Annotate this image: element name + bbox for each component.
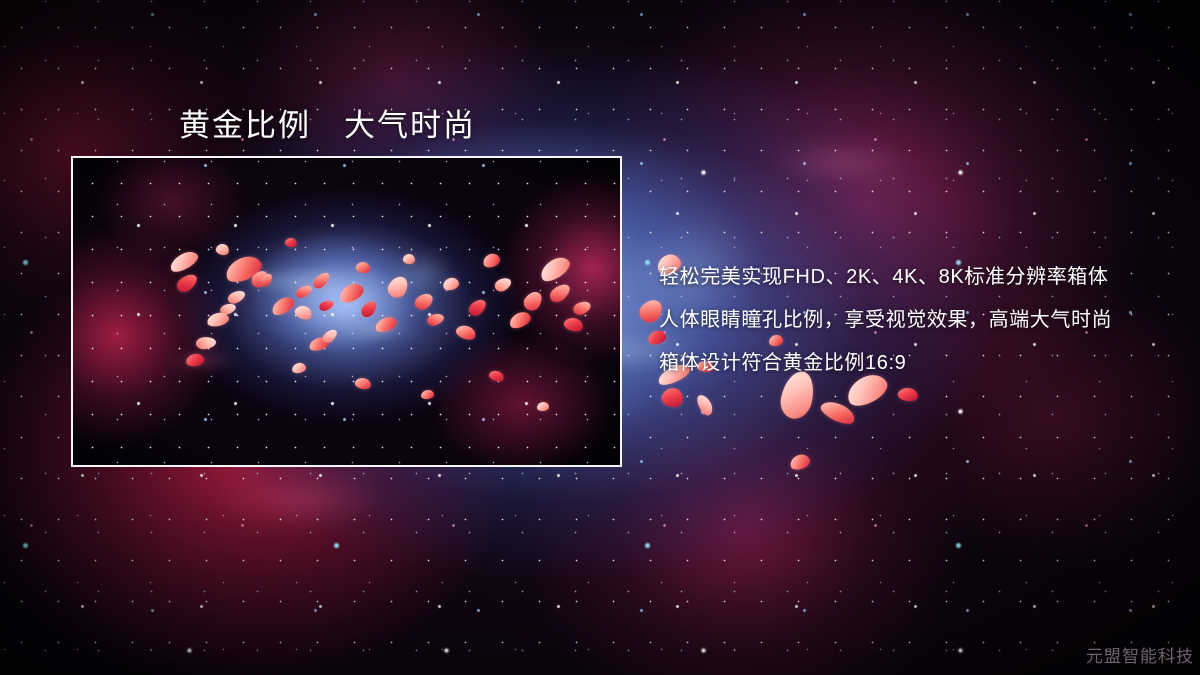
petal — [481, 252, 501, 270]
petal — [185, 353, 204, 367]
petal — [537, 253, 574, 285]
petal — [215, 242, 231, 256]
petal — [294, 283, 314, 300]
petal — [402, 253, 415, 265]
petal — [354, 376, 372, 391]
inset-starfield-small-icon — [73, 158, 620, 465]
body-line-2: 人体眼睛瞳孔比例，享受视觉效果，高端大气时尚 — [659, 299, 1179, 342]
inset-nebula-wisps — [73, 158, 620, 465]
petal — [493, 275, 514, 294]
petal — [308, 335, 331, 352]
petal — [359, 298, 380, 320]
petal — [466, 296, 489, 319]
petal — [454, 323, 477, 343]
petal — [355, 261, 371, 275]
petal — [547, 281, 573, 306]
inset-nebula-background — [73, 158, 620, 465]
petal — [571, 299, 592, 318]
petal — [249, 268, 271, 291]
petal — [311, 270, 332, 291]
petal — [818, 397, 858, 428]
petal — [318, 298, 335, 312]
inset-petal-group — [73, 158, 620, 465]
body-text-block: 轻松完美实现FHD、2K、4K、8K标准分辨率箱体 人体眼睛瞳孔比例，享受视觉效… — [659, 256, 1179, 385]
petal — [537, 402, 550, 412]
petal — [426, 311, 446, 327]
petal — [219, 302, 237, 317]
petal — [421, 389, 435, 399]
petal — [174, 271, 200, 296]
petal — [284, 237, 297, 248]
watermark-label: 元盟智能科技 — [1086, 642, 1194, 667]
petal — [660, 385, 686, 410]
petal — [337, 280, 366, 305]
petal — [488, 369, 506, 384]
petal — [195, 336, 216, 351]
petal — [507, 309, 533, 331]
petal — [897, 386, 919, 402]
petal — [226, 288, 247, 306]
inset-starfield-medium-icon — [73, 158, 620, 465]
petal — [521, 288, 545, 314]
petal — [563, 316, 585, 334]
petal — [385, 273, 411, 301]
petal — [321, 327, 340, 345]
petal — [293, 303, 314, 322]
petal — [269, 294, 297, 318]
petal — [695, 392, 715, 417]
petal — [167, 248, 201, 275]
framed-inset-image — [71, 156, 622, 467]
petal — [222, 252, 265, 286]
body-line-3: 箱体设计符合黄金比例16:9 — [659, 342, 1179, 385]
petal — [788, 452, 811, 471]
slide-canvas: 黄金比例 大气时尚 轻松完美实现FHD、2K、4K、8K标准分辨率箱体 人体眼睛… — [0, 0, 1200, 675]
petal — [442, 276, 460, 292]
petal — [291, 362, 307, 374]
petal — [373, 315, 398, 335]
page-title: 黄金比例 大气时尚 — [179, 100, 476, 145]
petal — [259, 272, 274, 289]
petal — [412, 290, 436, 313]
body-line-1: 轻松完美实现FHD、2K、4K、8K标准分辨率箱体 — [659, 256, 1179, 299]
petal — [206, 311, 230, 328]
